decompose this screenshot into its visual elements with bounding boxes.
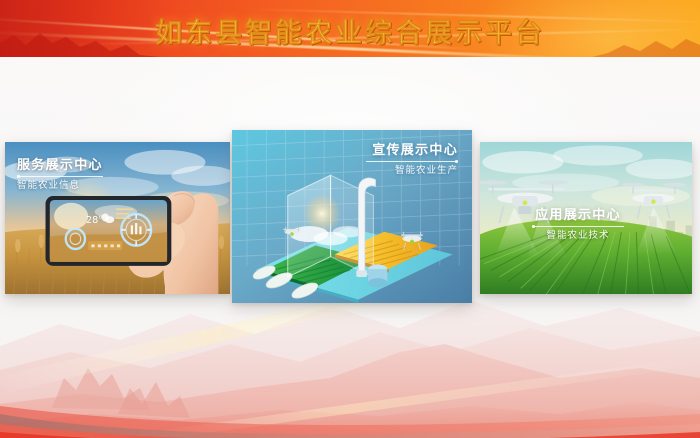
page-title: 如东县智能农业综合展示平台	[0, 11, 700, 50]
panel-service-subtitle: 智能农业信息	[17, 181, 103, 191]
panel-application-title: 应用展示中心	[532, 208, 624, 221]
panel-promotion-caption: 宣传展示中心 智能农业生产	[366, 143, 458, 176]
caption-divider	[532, 226, 624, 227]
panel-application-subtitle: 智能农业技术	[532, 231, 624, 241]
panel-service-title: 服务展示中心	[17, 158, 103, 171]
water-tank	[368, 265, 387, 288]
panel-promotion-subtitle: 智能农业生产	[366, 166, 458, 176]
panel-promotion-title: 宣传展示中心	[366, 143, 458, 156]
panel-service[interactable]: 28° 服务展示中心	[5, 142, 230, 294]
panel-application-caption: 应用展示中心 智能农业技术	[532, 208, 624, 241]
panel-application[interactable]: 应用展示中心 智能农业技术	[480, 142, 692, 294]
panel-service-caption: 服务展示中心 智能农业信息	[17, 158, 103, 191]
panel-promotion[interactable]: 宣传展示中心 智能农业生产	[232, 130, 472, 303]
page-background: 如东县智能农业综合展示平台	[0, 0, 700, 438]
caption-divider	[17, 176, 103, 177]
smartphone-graphic: 28°	[46, 196, 172, 266]
caption-divider	[366, 161, 458, 162]
svg-text:28°: 28°	[86, 215, 103, 226]
header-banner: 如东县智能农业综合展示平台	[0, 0, 700, 57]
